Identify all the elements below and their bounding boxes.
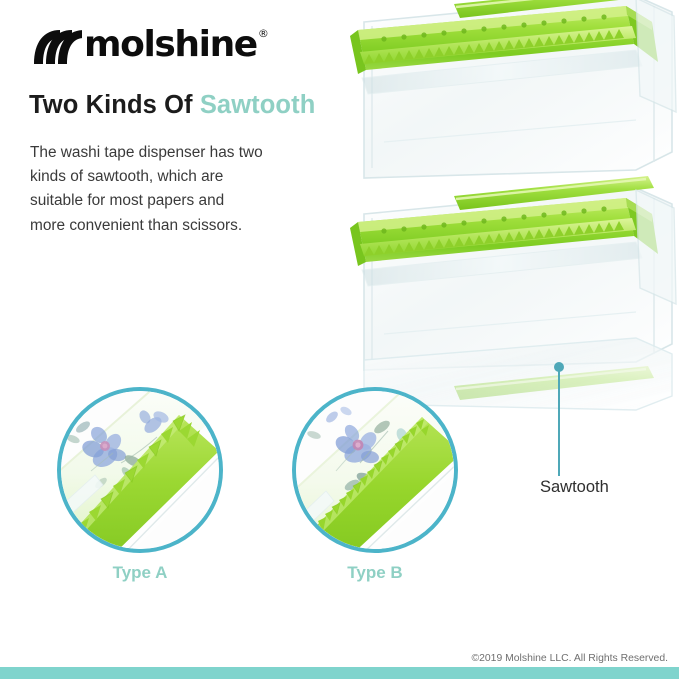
footer-accent-bar <box>0 667 679 679</box>
copyright-notice: ©2019 Molshine LLC. All Rights Reserved. <box>471 653 668 664</box>
callout-leader-line <box>558 366 560 476</box>
description-line: kinds of sawtooth, which are <box>30 165 298 189</box>
detail-ring <box>57 387 223 553</box>
detail-label-type-b: Type B <box>292 563 458 583</box>
detail-label-type-a: Type A <box>57 563 223 583</box>
detail-circle-type-a: Type A <box>57 387 223 553</box>
brand-logo: molshine ® <box>30 26 269 66</box>
title-primary: Two Kinds Of <box>29 91 193 119</box>
callout-label: Sawtooth <box>540 478 609 497</box>
page-title: Two Kinds Of Sawtooth <box>29 90 315 120</box>
waves-logo-icon <box>30 26 82 66</box>
description-line: more convenient than scissors. <box>30 214 298 238</box>
description-paragraph: The washi tape dispenser has two kinds o… <box>30 141 298 238</box>
description-line: suitable for most papers and <box>30 189 298 213</box>
sawtooth-callout: Sawtooth <box>515 358 675 503</box>
description-line: The washi tape dispenser has two <box>30 141 298 165</box>
title-accent: Sawtooth <box>200 91 316 119</box>
brand-wordmark: molshine <box>84 26 257 64</box>
detail-circle-type-b: Type B <box>292 387 458 553</box>
product-infographic: molshine ® Two Kinds Of Sawtooth The was… <box>0 0 679 679</box>
product-photo <box>336 0 679 412</box>
trademark-symbol: ® <box>258 28 269 39</box>
detail-ring <box>292 387 458 553</box>
